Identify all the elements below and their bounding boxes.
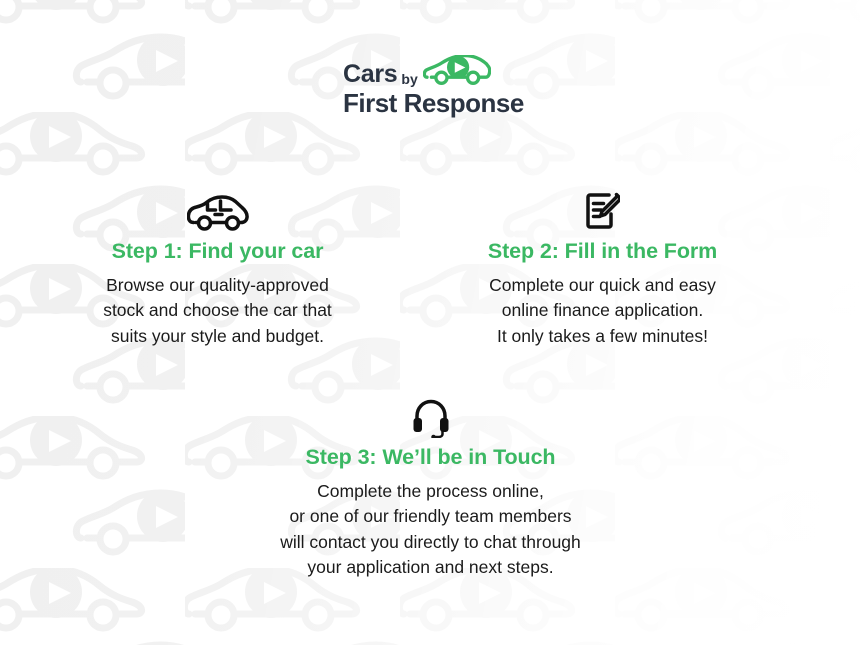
step-title: Step 1: Find your car	[45, 239, 390, 265]
step-body-line: your application and next steps.	[168, 555, 693, 580]
step-title: Step 3: We’ll be in Touch	[168, 445, 693, 471]
logo-bottom-line: First Response	[343, 90, 520, 116]
step-body-line: suits your style and budget.	[45, 324, 390, 349]
step-body-line: stock and choose the car that	[45, 298, 390, 323]
promo-graphic: Cars by First Response	[0, 0, 860, 645]
step-body-line: Browse our quality-approved	[45, 273, 390, 298]
step-body-line: Complete our quick and easy	[430, 273, 775, 298]
step-body-line: online finance application.	[430, 298, 775, 323]
step-body: Complete our quick and easy online finan…	[430, 273, 775, 349]
step-body-line: It only takes a few minutes!	[430, 324, 775, 349]
step-body-line: or one of our friendly team members	[168, 504, 693, 529]
step-body: Browse our quality-approved stock and ch…	[45, 273, 390, 349]
form-pencil-icon	[430, 186, 775, 232]
step-title: Step 2: Fill in the Form	[430, 239, 775, 265]
step-card-3: Step 3: We’ll be in Touch Complete the p…	[168, 392, 693, 580]
step-card-2: Step 2: Fill in the Form Complete our qu…	[430, 186, 775, 349]
logo-word-by: by	[401, 72, 417, 86]
step-body-line: will contact you directly to chat throug…	[168, 530, 693, 555]
brand-logo: Cars by First Response	[0, 57, 860, 116]
step-body: Complete the process online, or one of o…	[168, 479, 693, 581]
step-card-1: Step 1: Find your car Browse our quality…	[45, 186, 390, 349]
logo-top-line: Cars by	[343, 57, 520, 87]
step-body-line: Complete the process online,	[168, 479, 693, 504]
car-side-icon	[45, 186, 390, 232]
logo-word-cars: Cars	[343, 62, 397, 87]
car-play-logo-icon	[423, 55, 491, 90]
headset-icon	[168, 392, 693, 438]
